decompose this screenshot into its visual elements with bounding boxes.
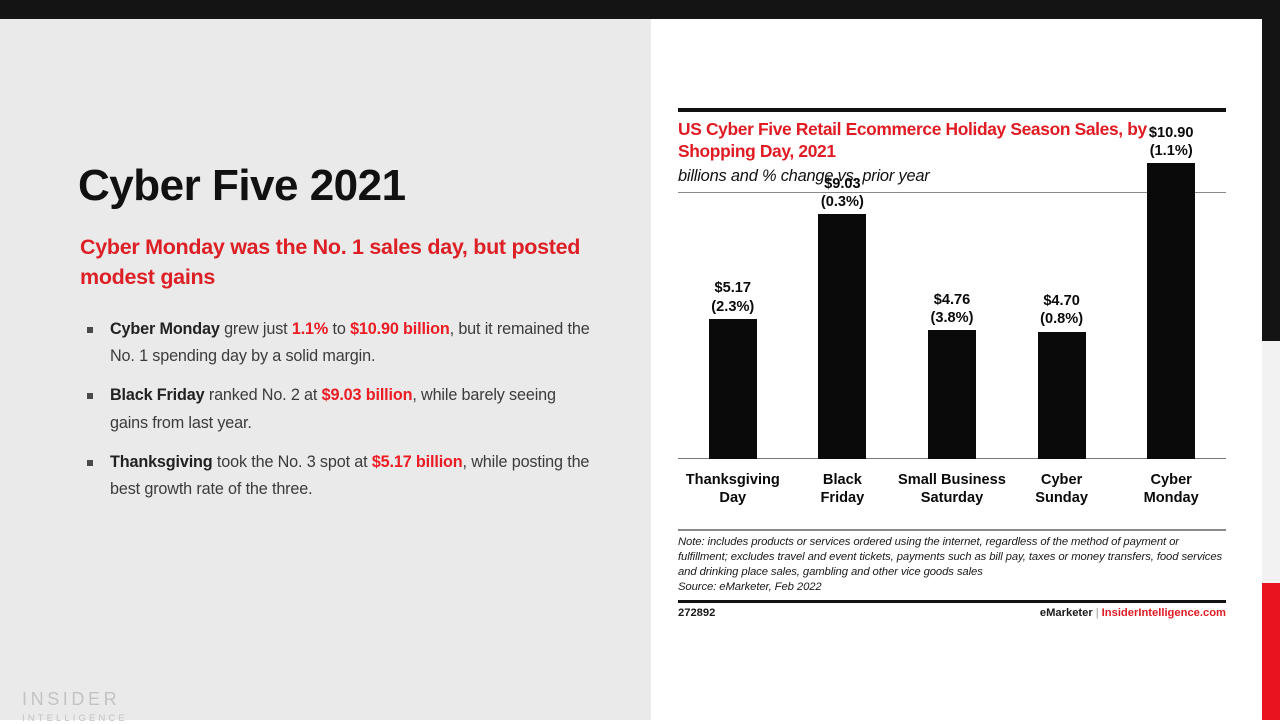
chart-bar-pct-change: (0.8%): [1040, 310, 1083, 328]
chart-category-label-line: Small Business: [893, 472, 1011, 490]
chart-category-label: Small BusinessSaturday: [893, 472, 1011, 507]
chart-bar[interactable]: [928, 330, 976, 459]
chart-bar-amount: $4.70: [1043, 293, 1080, 309]
bullet-highlight-value: $9.03 billion: [322, 386, 413, 404]
chart-category-label-line: Monday: [1112, 490, 1230, 508]
chart-attribution: eMarketer|InsiderIntelligence.com: [1040, 607, 1226, 619]
chart-bar-group: $5.17(2.3%)ThanksgivingDay: [678, 193, 788, 529]
bullet-text-segment: grew just: [220, 320, 292, 338]
chart-bar-group: $10.90(1.1%)CyberMonday: [1116, 193, 1226, 529]
chart-bar[interactable]: [818, 214, 866, 459]
right-decor-band-dark: [1262, 0, 1280, 341]
chart-top-rule: [678, 108, 1226, 112]
chart-bar-amount: $4.76: [934, 292, 971, 308]
chart-category-label: ThanksgivingDay: [674, 472, 792, 507]
list-item: Cyber Monday grew just 1.1% to $10.90 bi…: [80, 316, 590, 370]
chart-bar[interactable]: [1147, 163, 1195, 459]
insider-intelligence-logo: INSIDER INTELLIGENCE: [22, 689, 128, 724]
top-decor-band: [0, 0, 1280, 19]
chart-id-number: 272892: [678, 607, 715, 619]
chart-bar[interactable]: [709, 319, 757, 459]
brand-logo-line-1: INSIDER: [22, 689, 128, 710]
attribution-website[interactable]: InsiderIntelligence.com: [1102, 607, 1226, 619]
page-title: Cyber Five 2021: [78, 163, 406, 209]
attribution-separator: |: [1093, 607, 1102, 619]
chart-bar-value-label: $5.17(2.3%): [711, 279, 754, 315]
chart-bar-group: $9.03(0.3%)BlackFriday: [788, 193, 898, 529]
chart-title: US Cyber Five Retail Ecommerce Holiday S…: [678, 119, 1226, 163]
list-item: Black Friday ranked No. 2 at $9.03 billi…: [80, 382, 590, 436]
bullet-lead-term: Cyber Monday: [110, 320, 220, 338]
bullet-highlight-value: 1.1%: [292, 320, 328, 338]
left-content-panel: Cyber Five 2021 Cyber Monday was the No.…: [0, 19, 651, 720]
bullet-highlight-value: $5.17 billion: [372, 453, 463, 471]
bullet-list: Cyber Monday grew just 1.1% to $10.90 bi…: [80, 316, 590, 515]
chart-note: Note: includes products or services orde…: [678, 535, 1226, 580]
chart-footer-rule: [678, 600, 1226, 603]
chart-category-label-line: Sunday: [1003, 490, 1121, 508]
chart-category-label: CyberMonday: [1112, 472, 1230, 507]
brand-logo-line-2: INTELLIGENCE: [22, 713, 128, 724]
bullet-highlight-value: $10.90 billion: [350, 320, 450, 338]
chart-category-label-line: Black: [783, 472, 901, 490]
bullet-square-icon: [87, 327, 93, 333]
chart-bar-amount: $9.03: [824, 176, 861, 192]
bullet-lead-term: Thanksgiving: [110, 453, 213, 471]
chart-bar[interactable]: [1038, 332, 1086, 460]
chart-bar-pct-change: (1.1%): [1149, 142, 1194, 160]
chart-bar-pct-change: (0.3%): [821, 193, 864, 211]
bullet-text-segment: ranked No. 2 at: [204, 386, 321, 404]
bullet-lead-term: Black Friday: [110, 386, 204, 404]
bullet-text-segment: took the No. 3 spot at: [213, 453, 372, 471]
chart-category-label-line: Cyber: [1003, 472, 1121, 490]
chart-subtitle: billions and % change vs. prior year: [678, 167, 1226, 186]
chart-bar-value-label: $10.90(1.1%): [1149, 124, 1194, 160]
page-subtitle: Cyber Monday was the No. 1 sales day, bu…: [80, 233, 600, 292]
bullet-square-icon: [87, 460, 93, 466]
chart-category-label-line: Thanksgiving: [674, 472, 792, 490]
chart-bar-amount: $10.90: [1149, 125, 1194, 141]
chart-bar-group: $4.70(0.8%)CyberSunday: [1007, 193, 1117, 529]
chart-bar-amount: $5.17: [715, 280, 752, 296]
attribution-emarketer: eMarketer: [1040, 607, 1093, 619]
chart-category-label: CyberSunday: [1003, 472, 1121, 507]
list-item: Thanksgiving took the No. 3 spot at $5.1…: [80, 449, 590, 503]
chart-plot-area: $5.17(2.3%)ThanksgivingDay$9.03(0.3%)Bla…: [678, 193, 1226, 529]
chart-note-rule: [678, 529, 1226, 531]
chart-bar-pct-change: (3.8%): [930, 309, 973, 327]
bullet-text-segment: to: [328, 320, 350, 338]
chart-category-label-line: Friday: [783, 490, 901, 508]
chart-bar-value-label: $4.76(3.8%): [930, 291, 973, 327]
chart-bar-value-label: $9.03(0.3%): [821, 175, 864, 211]
right-decor-band-red: [1262, 583, 1280, 720]
right-decor-band-gray: [1262, 341, 1280, 583]
chart-bar-value-label: $4.70(0.8%): [1040, 292, 1083, 328]
chart-bar-group: $4.76(3.8%)Small BusinessSaturday: [897, 193, 1007, 529]
chart-card: US Cyber Five Retail Ecommerce Holiday S…: [678, 108, 1226, 619]
chart-category-label: BlackFriday: [783, 472, 901, 507]
bullet-square-icon: [87, 393, 93, 399]
chart-category-label-line: Day: [674, 490, 792, 508]
chart-category-label-line: Saturday: [893, 490, 1011, 508]
chart-footer: 272892 eMarketer|InsiderIntelligence.com: [678, 607, 1226, 619]
chart-source: Source: eMarketer, Feb 2022: [678, 580, 1226, 595]
chart-category-label-line: Cyber: [1112, 472, 1230, 490]
chart-bar-pct-change: (2.3%): [711, 298, 754, 316]
